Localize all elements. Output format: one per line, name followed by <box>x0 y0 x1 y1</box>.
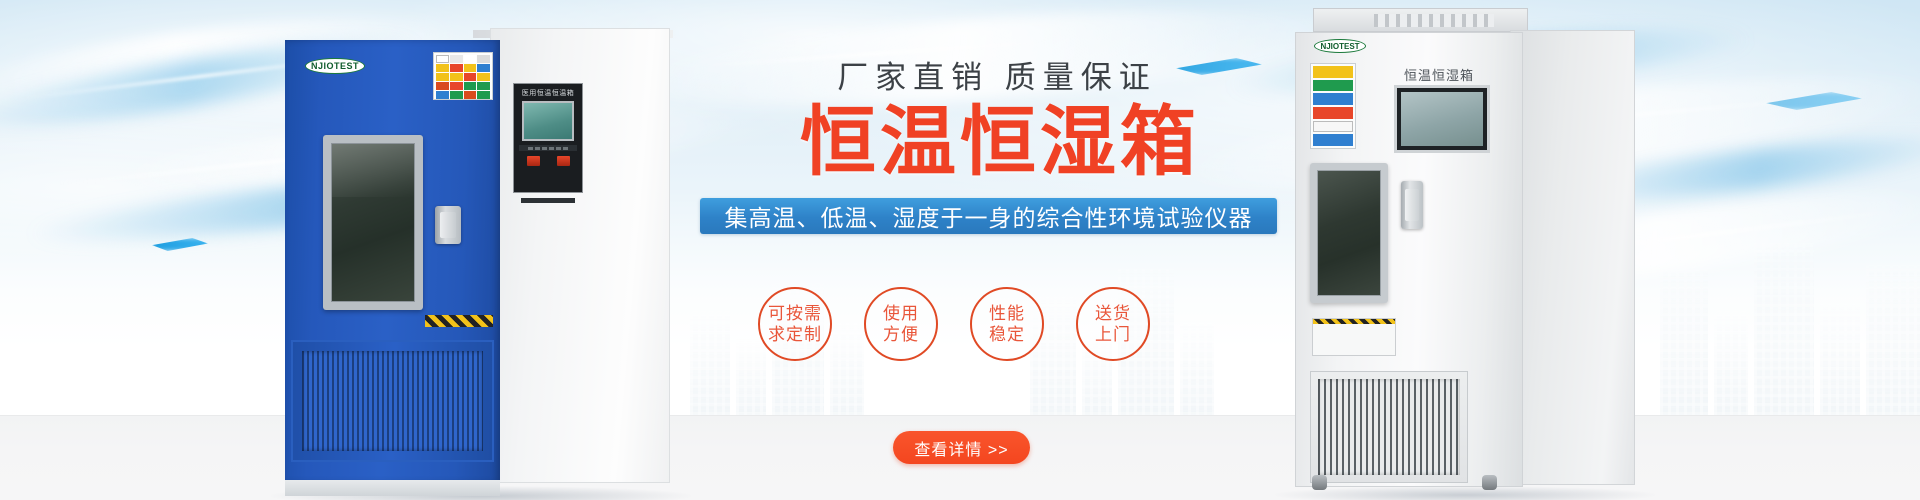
brand-logo: NJIOTEST <box>305 58 365 74</box>
badge-line-1: 性能 <box>989 303 1025 324</box>
chamber-door <box>323 135 423 310</box>
lcd-screen <box>522 101 574 141</box>
tagline: 厂家直销 质量保证 <box>694 52 1300 97</box>
warning-label-panel <box>433 52 493 100</box>
control-panel-label: 医用恒温恒温箱 <box>518 88 578 98</box>
machine-top-unit <box>1313 8 1528 32</box>
subtitle-text: 集高温、低温、湿度于一身的综合性环境试验仪器 <box>725 199 1253 233</box>
machine-front-blue: NJIOTEST <box>285 40 500 483</box>
badge-line-1: 可按需 <box>768 303 822 324</box>
hazard-stripe <box>425 315 493 327</box>
view-details-button[interactable]: 查看详情 >> <box>893 431 1030 464</box>
lcd-screen <box>1394 85 1490 153</box>
warning-label-panel <box>1310 63 1356 149</box>
door-handle <box>1401 181 1423 229</box>
product-image-right-chamber: NJIOTEST 恒温恒湿箱 <box>1285 8 1635 500</box>
control-buttons <box>518 156 578 166</box>
feature-badge-easy-use[interactable]: 使用 方便 <box>864 287 938 361</box>
chamber-door <box>1310 163 1388 303</box>
product-image-left-chamber: 医用恒温恒温箱 NJIOTEST <box>285 28 670 500</box>
badge-line-2: 稳定 <box>989 324 1025 345</box>
brand-logo: NJIOTEST <box>1314 39 1366 53</box>
banner-copy: 厂家直销 质量保证 恒温恒湿箱 集高温、低温、湿度于一身的综合性环境试验仪器 <box>700 52 1300 234</box>
machine-shadow <box>1275 486 1655 500</box>
subtitle-bar: 集高温、低温、湿度于一身的综合性环境试验仪器 <box>700 198 1277 234</box>
control-panel: 医用恒温恒温箱 <box>513 83 583 193</box>
headline: 恒温恒湿箱 <box>700 103 1300 184</box>
ventilation-grille <box>291 340 494 462</box>
panel-footer-strip <box>521 198 575 203</box>
feature-badge-delivery[interactable]: 送货 上门 <box>1076 287 1150 361</box>
machine-model-label: 恒温恒湿箱 <box>1404 65 1474 84</box>
caster-wheel <box>1312 475 1327 490</box>
feature-badge-list: 可按需 求定制 使用 方便 性能 稳定 送货 上门 <box>758 287 1150 361</box>
indicator-strip <box>519 145 577 151</box>
feature-badge-custom[interactable]: 可按需 求定制 <box>758 287 832 361</box>
machine-base <box>285 480 500 496</box>
product-banner: 医用恒温恒温箱 NJIOTEST <box>0 0 1920 500</box>
door-handle <box>435 206 461 244</box>
ventilation-grille <box>1310 371 1468 483</box>
feature-badge-stable[interactable]: 性能 稳定 <box>970 287 1044 361</box>
spec-plate <box>1312 318 1396 356</box>
badge-line-2: 上门 <box>1095 324 1131 345</box>
badge-line-2: 方便 <box>883 324 919 345</box>
badge-line-1: 使用 <box>883 303 919 324</box>
badge-line-1: 送货 <box>1095 303 1131 324</box>
machine-front-grey: NJIOTEST 恒温恒湿箱 <box>1295 32 1523 487</box>
door-window <box>331 143 415 302</box>
badge-line-2: 求定制 <box>768 324 822 345</box>
caster-wheel <box>1482 475 1497 490</box>
machine-side-panel <box>1510 30 1635 485</box>
door-window <box>1317 170 1381 296</box>
